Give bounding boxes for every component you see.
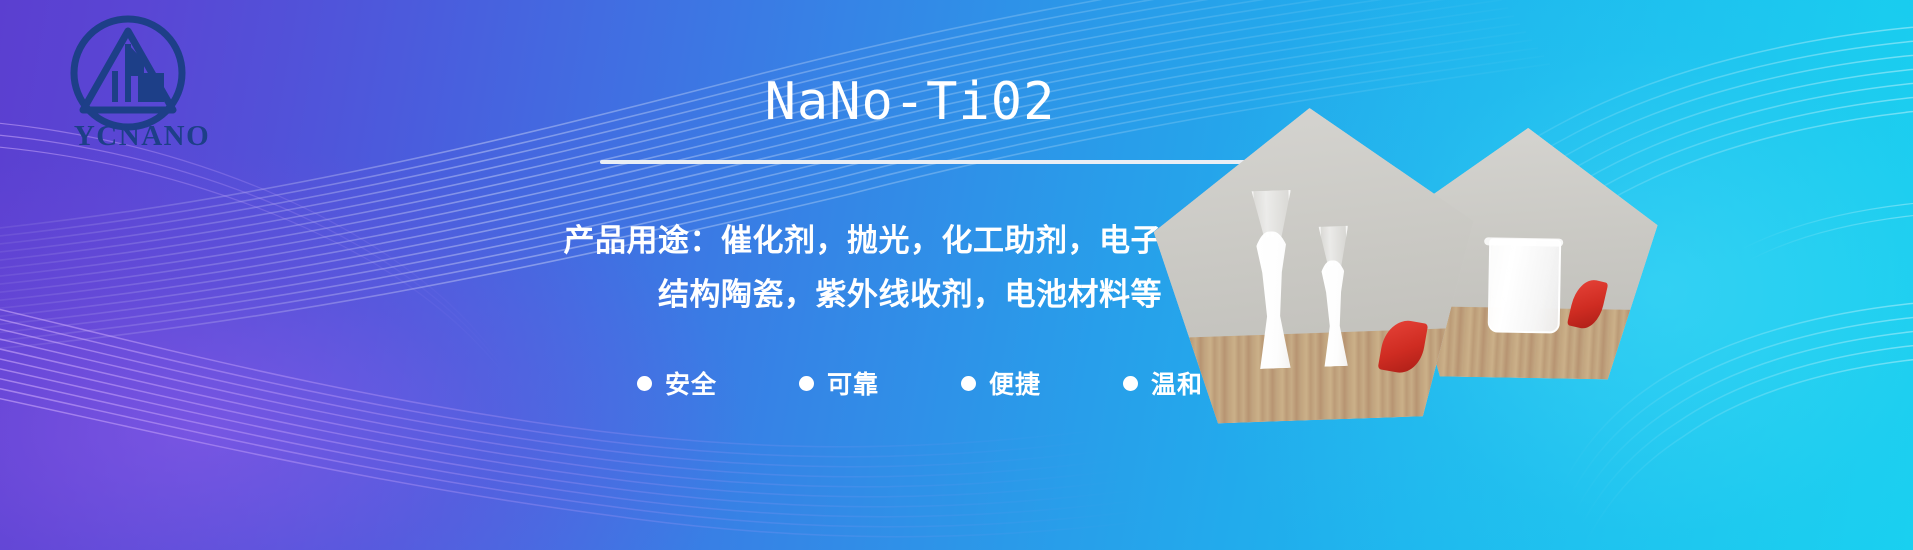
product-banner: YCNANO NaNo-Ti02 产品用途：催化剂，抛光，化工助剂，电子陶瓷， … [0, 0, 1913, 550]
product-photo-group [1133, 0, 1913, 550]
vase-tall-shape [1243, 230, 1302, 369]
feature-label: 便捷 [989, 365, 1041, 401]
feature-item-convenient: 便捷 [961, 365, 1041, 401]
feature-item-safe: 安全 [637, 365, 717, 401]
brand-logo[interactable]: YCNANO [47, 14, 237, 154]
vase-short-shape [1312, 260, 1357, 367]
feature-label: 安全 [665, 365, 717, 401]
ycnano-triangle-circle-logo-icon [69, 14, 187, 132]
dot-bullet-icon [799, 376, 814, 391]
feature-item-reliable: 可靠 [799, 365, 879, 401]
brand-name: YCNANO [47, 122, 237, 151]
beaker-shape [1488, 238, 1562, 333]
beaker-rim-shape [1484, 237, 1563, 246]
feature-label: 可靠 [827, 365, 879, 401]
product-photo-vases [1150, 103, 1481, 426]
dot-bullet-icon [637, 376, 652, 391]
dot-bullet-icon [961, 376, 976, 391]
